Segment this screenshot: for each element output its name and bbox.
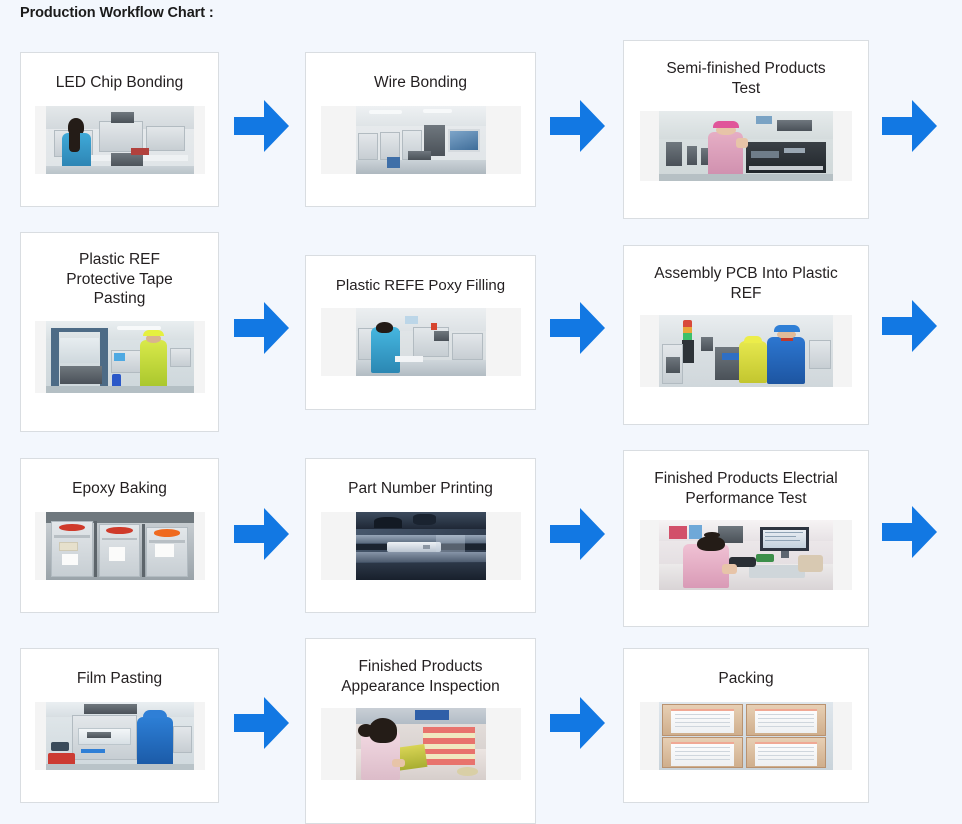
arrow-step-5-to-6 (550, 302, 605, 354)
arrow-step-4-to-5 (234, 302, 289, 354)
arrow-step-7-to-8 (234, 508, 289, 560)
flow-card-title: Finished Products Appearance Inspection (306, 657, 535, 696)
flow-card-assembly-pcb-into-plastic-ref[interactable]: Assembly PCB Into Plastic REF (623, 245, 869, 425)
flow-card-title: Part Number Printing (306, 479, 535, 499)
flow-card-led-chip-bonding[interactable]: LED Chip Bonding (20, 52, 219, 207)
arrow-row-3-wrap (882, 506, 937, 558)
flow-card-wire-bonding[interactable]: Wire Bonding (305, 52, 536, 207)
flow-card-semi-finished-products-test[interactable]: Semi-finished Products Test (623, 40, 869, 219)
flow-card-part-number-printing[interactable]: Part Number Printing (305, 458, 536, 613)
production-workflow-chart: Production Workflow Chart : LED Chip Bon… (0, 0, 962, 824)
flow-card-plastic-refe-poxy-filling[interactable]: Plastic REFE Poxy Filling (305, 255, 536, 410)
flow-card-title: Packing (624, 669, 868, 689)
flow-card-plastic-ref-protective-tape-pasting[interactable]: Plastic REF Protective Tape Pasting (20, 232, 219, 432)
flow-card-title: LED Chip Bonding (21, 73, 218, 93)
flow-card-epoxy-baking[interactable]: Epoxy Baking (20, 458, 219, 613)
flow-card-title: Finished Products Electrial Performance … (624, 469, 868, 508)
flow-card-title: Epoxy Baking (21, 479, 218, 499)
arrow-step-10-to-11 (234, 697, 289, 749)
flow-card-image (35, 321, 205, 393)
flow-card-title: Film Pasting (21, 669, 218, 689)
flow-card-image (640, 111, 852, 181)
flow-card-finished-products-electrial-performance-test[interactable]: Finished Products Electrial Performance … (623, 450, 869, 627)
arrow-step-8-to-9 (550, 508, 605, 560)
flow-card-image (321, 308, 521, 376)
flow-card-title: Wire Bonding (306, 73, 535, 93)
flow-card-title: Plastic REFE Poxy Filling (306, 276, 535, 295)
flow-card-image (35, 512, 205, 580)
flow-card-image (321, 512, 521, 580)
arrow-step-2-to-3 (550, 100, 605, 152)
flow-card-image (35, 702, 205, 770)
flow-card-film-pasting[interactable]: Film Pasting (20, 648, 219, 803)
flow-card-image (321, 106, 521, 174)
flow-card-title: Semi-finished Products Test (624, 59, 868, 98)
page-title: Production Workflow Chart : (20, 5, 214, 21)
flow-card-title: Plastic REF Protective Tape Pasting (21, 250, 218, 309)
flow-card-image (640, 315, 852, 387)
flow-card-title: Assembly PCB Into Plastic REF (624, 264, 868, 303)
flow-card-image (35, 106, 205, 174)
arrow-row-1-wrap (882, 100, 937, 152)
flow-card-image (321, 708, 521, 780)
arrow-step-11-to-12 (550, 697, 605, 749)
flow-card-packing[interactable]: Packing (623, 648, 869, 803)
arrow-step-1-to-2 (234, 100, 289, 152)
flow-card-finished-products-appearance-inspection[interactable]: Finished Products Appearance Inspection (305, 638, 536, 824)
arrow-row-2-wrap (882, 300, 937, 352)
flow-card-image (640, 520, 852, 590)
flow-card-image (640, 702, 852, 770)
